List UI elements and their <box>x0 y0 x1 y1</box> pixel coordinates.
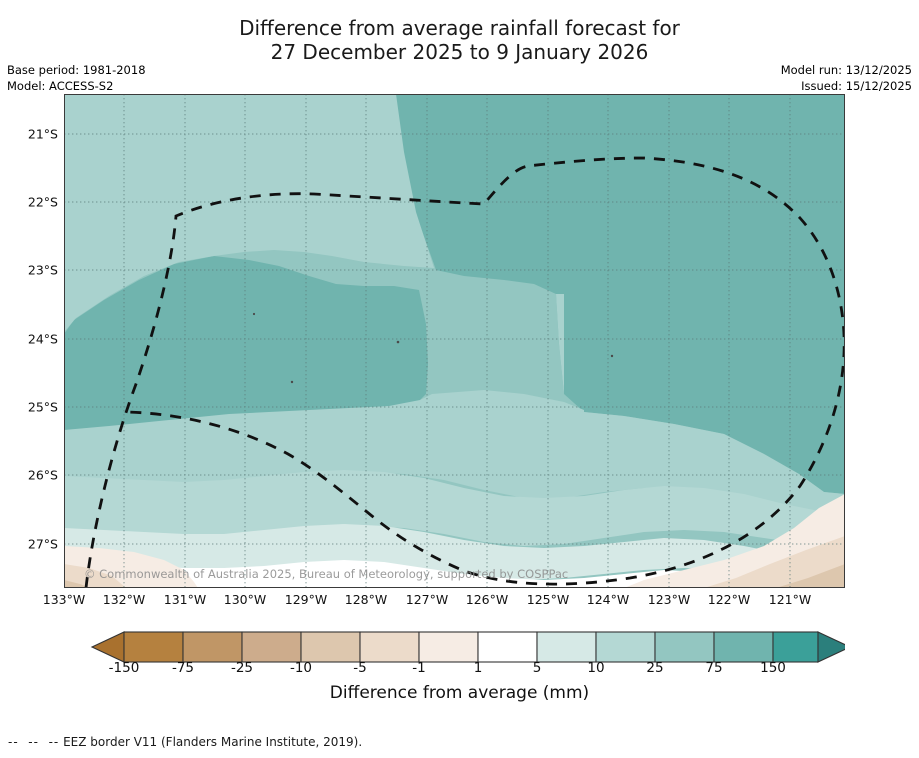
model-run-text: Model run: 13/12/2025 <box>781 62 912 78</box>
colorbar-seg-7 <box>478 632 537 662</box>
x-tick-10: 123°W <box>648 592 690 607</box>
map-watermark: © Commonwealth of Australia 2025, Bureau… <box>84 567 568 581</box>
colorbar-segments <box>92 632 845 662</box>
colorbar-seg-6 <box>419 632 478 662</box>
eez-dash-sample: -- -- -- <box>8 735 59 749</box>
cb-tick-11: 150 <box>760 660 786 676</box>
colorbar-seg-12 <box>773 632 818 662</box>
x-tick-1: 132°W <box>103 592 145 607</box>
y-tick-3: 24°S <box>2 332 58 347</box>
colorbar-seg-11 <box>714 632 773 662</box>
colorbar-ticks: -150 -75 -25 -10 -5 -1 1 5 10 25 75 150 <box>64 660 845 680</box>
cb-tick-0: -150 <box>109 660 140 676</box>
colorbar-seg-10 <box>655 632 714 662</box>
title-line-1: Difference from average rainfall forecas… <box>0 16 919 40</box>
colorbar-seg-8 <box>537 632 596 662</box>
colorbar-seg-4 <box>301 632 360 662</box>
page-title: Difference from average rainfall forecas… <box>0 16 919 65</box>
metadata-right: Model run: 13/12/2025 Issued: 15/12/2025 <box>781 62 912 95</box>
map-canvas[interactable]: © Commonwealth of Australia 2025, Bureau… <box>64 94 845 588</box>
colorbar-extend-low <box>92 632 124 662</box>
cb-tick-6: 1 <box>474 660 483 676</box>
x-tick-5: 128°W <box>345 592 387 607</box>
y-tick-0: 21°S <box>2 127 58 142</box>
x-tick-2: 131°W <box>164 592 206 607</box>
rainfall-anomaly-map[interactable]: © Commonwealth of Australia 2025, Bureau… <box>64 94 845 588</box>
metadata-left: Base period: 1981-2018 Model: ACCESS-S2 <box>7 62 146 95</box>
colorbar-canvas[interactable] <box>64 630 845 664</box>
cb-tick-8: 10 <box>587 660 604 676</box>
footer-legend: -- -- -- EEZ border V11 (Flanders Marine… <box>8 735 362 749</box>
colorbar-seg-5 <box>360 632 419 662</box>
longitude-axis: 133°W 132°W 131°W 130°W 129°W 128°W 127°… <box>64 592 845 616</box>
issued-text: Issued: 15/12/2025 <box>781 78 912 94</box>
x-tick-8: 125°W <box>527 592 569 607</box>
cb-tick-9: 25 <box>646 660 663 676</box>
cb-tick-3: -10 <box>290 660 312 676</box>
colorbar-label: Difference from average (mm) <box>0 683 919 703</box>
colorbar-seg-2 <box>183 632 242 662</box>
x-tick-11: 122°W <box>708 592 750 607</box>
cb-tick-7: 5 <box>533 660 542 676</box>
x-tick-3: 130°W <box>224 592 266 607</box>
cb-tick-1: -75 <box>172 660 194 676</box>
x-tick-7: 126°W <box>466 592 508 607</box>
contour-fill-layer <box>64 94 845 588</box>
base-period-text: Base period: 1981-2018 <box>7 62 146 78</box>
y-tick-6: 27°S <box>2 537 58 552</box>
y-tick-5: 26°S <box>2 468 58 483</box>
latitude-axis: 21°S 22°S 23°S 24°S 25°S 26°S 27°S <box>0 94 58 588</box>
y-tick-1: 22°S <box>2 195 58 210</box>
cb-tick-4: -5 <box>353 660 366 676</box>
y-tick-2: 23°S <box>2 263 58 278</box>
colorbar-seg-9 <box>596 632 655 662</box>
model-text: Model: ACCESS-S2 <box>7 78 146 94</box>
colorbar-seg-3 <box>242 632 301 662</box>
colorbar-extend-high <box>818 632 845 662</box>
eez-legend-text: EEZ border V11 (Flanders Marine Institut… <box>63 735 362 749</box>
colorbar-seg-1 <box>124 632 183 662</box>
x-tick-6: 127°W <box>406 592 448 607</box>
y-tick-4: 25°S <box>2 400 58 415</box>
cb-tick-10: 75 <box>705 660 722 676</box>
cb-tick-2: -25 <box>231 660 253 676</box>
x-tick-12: 121°W <box>769 592 811 607</box>
x-tick-4: 129°W <box>285 592 327 607</box>
x-tick-0: 133°W <box>43 592 85 607</box>
x-tick-9: 124°W <box>587 592 629 607</box>
cb-tick-5: -1 <box>412 660 425 676</box>
